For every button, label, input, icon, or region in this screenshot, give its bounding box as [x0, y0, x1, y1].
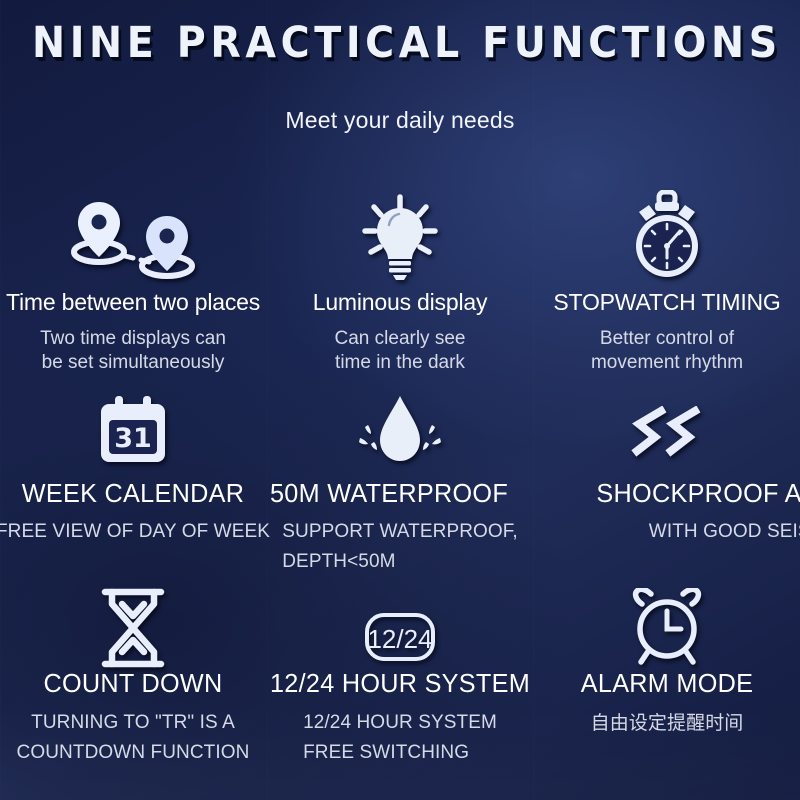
shockproof-chevrons-icon [534, 390, 800, 468]
feature-title: COUNT DOWN [44, 670, 223, 696]
feature-subtitle-line: TURNING TO "TR" IS A [17, 712, 250, 734]
feature-subtitle-line: SUPPORT WATERPROOF, [282, 521, 518, 543]
feature-subtitle-line: 12/24 HOUR SYSTEM [303, 712, 497, 734]
stopwatch-icon [534, 190, 800, 282]
feature-card-luminous-display: Luminous display Can clearly see time in… [267, 178, 533, 386]
feature-card-shockproof-and-fall-proof: SHOCKPROOF AND FALL P WITH GOOD SEISMIC … [534, 386, 800, 578]
feature-row-1: Time between two places Two time display… [0, 178, 800, 386]
feature-subtitle: TURNING TO "TR" IS A COUNTDOWN FUNCTION [17, 712, 250, 765]
feature-row-3: COUNT DOWN TURNING TO "TR" IS A COUNTDOW… [0, 578, 800, 793]
feature-subtitle-line: COUNTDOWN FUNCTION [17, 742, 250, 764]
feature-subtitle-line: FREE VIEW OF DAY OF WEEK [0, 521, 270, 543]
feature-title: Time between two places [6, 291, 260, 314]
lightbulb-icon [267, 190, 533, 282]
feature-subtitle: WITH GOOD SEISMIC FU [649, 521, 800, 543]
feature-subtitle-line: Better control of [591, 328, 743, 350]
feature-card-alarm-mode: ALARM MODE 自由设定提醒时间 [534, 578, 800, 793]
water-drop-icon [267, 390, 533, 468]
feature-title: WEEK CALENDAR [22, 480, 244, 506]
feature-card-stopwatch-timing: STOPWATCH TIMING Better control of movem… [534, 178, 800, 386]
feature-subtitle-line: Two time displays can [40, 328, 226, 350]
map-pins-route-icon [0, 190, 266, 282]
feature-row-2: 31 WEEK CALENDAR FREE VIEW OF DAY OF WEE… [0, 386, 800, 578]
badge-label: 12/24 [367, 624, 432, 654]
feature-subtitle: Two time displays can be set simultaneou… [40, 328, 226, 375]
alarm-clock-icon [534, 586, 800, 668]
promo-page: NINE PRACTICAL FUNCTIONS Meet your daily… [0, 0, 800, 800]
feature-title: SHOCKPROOF AND FALL P [596, 480, 800, 506]
feature-subtitle-line: time in the dark [335, 352, 466, 374]
feature-title: 50M WATERPROOF [270, 480, 508, 506]
feature-subtitle: FREE VIEW OF DAY OF WEEK [0, 521, 270, 543]
feature-subtitle-line: FREE SWITCHING [303, 742, 497, 764]
calendar-day-number: 31 [114, 423, 152, 454]
feature-card-time-between-two-places: Time between two places Two time display… [0, 178, 266, 386]
feature-title: STOPWATCH TIMING [553, 291, 780, 314]
twelve-twentyfour-badge-icon: 12/24 [267, 586, 533, 668]
feature-subtitle-line: DEPTH<50M [282, 551, 518, 573]
hourglass-icon [0, 586, 266, 668]
feature-card-12-24-hour-system: 12/24 12/24 HOUR SYSTEM 12/24 HOUR SYSTE… [267, 578, 533, 793]
feature-grid: Time between two places Two time display… [0, 178, 800, 793]
feature-card-50m-waterproof: 50M WATERPROOF SUPPORT WATERPROOF, DEPTH… [267, 386, 533, 578]
feature-subtitle-line: 自由设定提醒时间 [591, 712, 744, 734]
feature-subtitle-line: Can clearly see [335, 328, 466, 350]
calendar-icon: 31 [0, 390, 266, 468]
feature-subtitle: Can clearly see time in the dark [335, 328, 466, 375]
feature-card-week-calendar: 31 WEEK CALENDAR FREE VIEW OF DAY OF WEE… [0, 386, 266, 578]
feature-subtitle-line: be set simultaneously [40, 352, 226, 374]
feature-title: Luminous display [313, 291, 488, 314]
feature-subtitle: 12/24 HOUR SYSTEM FREE SWITCHING [303, 712, 497, 765]
feature-card-count-down: COUNT DOWN TURNING TO "TR" IS A COUNTDOW… [0, 578, 266, 793]
feature-subtitle-line: WITH GOOD SEISMIC FU [649, 521, 800, 543]
page-subtitle: Meet your daily needs [0, 107, 800, 134]
page-title: NINE PRACTICAL FUNCTIONS [32, 22, 768, 65]
feature-subtitle: SUPPORT WATERPROOF, DEPTH<50M [282, 521, 518, 574]
feature-title: ALARM MODE [581, 670, 753, 696]
feature-subtitle-line: movement rhythm [591, 352, 743, 374]
feature-title: 12/24 HOUR SYSTEM [270, 670, 530, 696]
feature-subtitle: Better control of movement rhythm [591, 328, 743, 375]
feature-subtitle: 自由设定提醒时间 [591, 712, 744, 734]
